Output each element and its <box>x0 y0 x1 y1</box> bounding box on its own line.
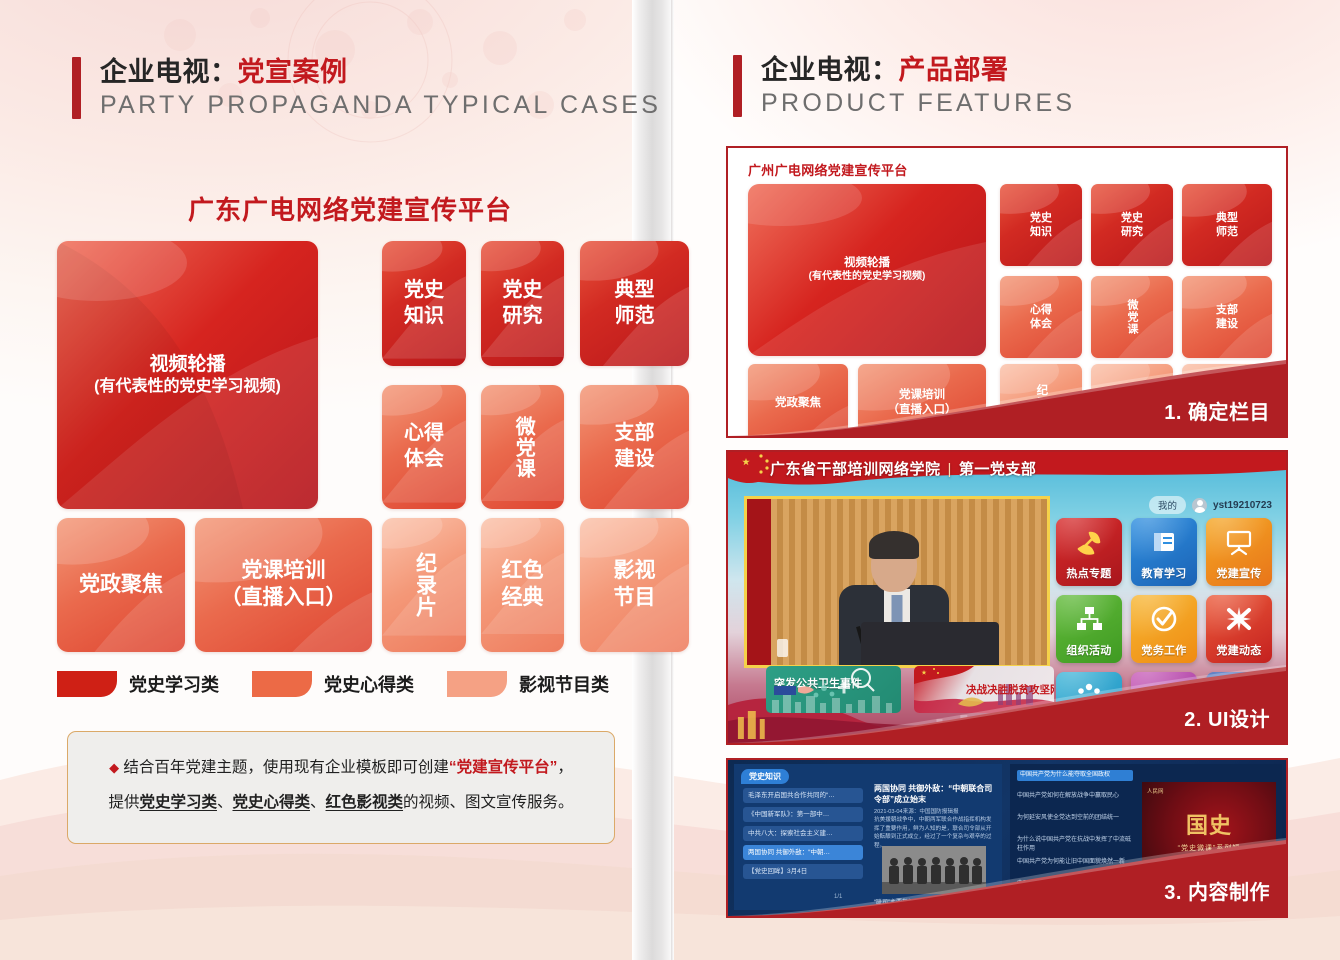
card-step-2-ui-design: 广东省干部培训网络学院|第一党支部 突发公共卫生事件 <box>726 450 1288 745</box>
platform-title: 广东广电网络党建宣传平台 <box>60 190 640 227</box>
tile-党史研究-label: 党史研究 <box>503 278 543 329</box>
note-line-2: 提供党史学习类、党史心得类、红色影视类的视频、图文宣传服务。 <box>94 791 588 814</box>
people-icon <box>1074 681 1104 711</box>
card1-feature-subtitle: (有代表性的党史学习视频) <box>809 271 926 284</box>
card3-ribbon-label: 3. 内容制作 <box>1164 876 1270 905</box>
app-tile-label: 党务工作 <box>1141 642 1186 658</box>
left-header-highlight: 党宣案例 <box>238 57 348 87</box>
hammer-sickle-icon <box>1074 527 1104 557</box>
tile-支部建设-label: 支部建设 <box>615 421 655 472</box>
card1-btile-党政聚焦-label: 党政聚焦 <box>775 396 821 411</box>
username-label: yst19210723 <box>1213 500 1272 511</box>
app-tile-热点专题[interactable]: 热点专题 <box>1056 518 1122 586</box>
card1-btile-党课培训直播入口-label: 党课培训（直播入口） <box>888 388 957 417</box>
card3-right-list-item[interactable]: 中国共产党为什么能建立新中国 <box>1017 880 1133 889</box>
card3-video-player[interactable]: 人民网 国史 “党史微课”系列短视频 00:00 / 05:17 <box>1142 782 1276 882</box>
card3-right-list-item[interactable]: 为什么说中国共产党在抗战中发挥了中流砥柱作用 <box>1017 836 1133 854</box>
tile-纪录片-label: 纪录片 <box>411 552 438 618</box>
tile-影视节目[interactable]: 影视节目 <box>580 518 689 652</box>
org-chart-icon <box>1074 604 1104 634</box>
card-step-1-columns: 广州广电网络党建宣传平台 视频轮播 (有代表性的党史学习视频) 党史知识 党史研… <box>726 146 1288 438</box>
tile-影视节目-label: 影视节目 <box>614 558 656 612</box>
app-tile-label: 热点专题 <box>1066 565 1111 581</box>
diamond-bullet-icon: ◆ <box>109 760 119 775</box>
card1-tile-党史知识[interactable]: 党史知识 <box>1000 184 1082 266</box>
card1-tile-支部建设[interactable]: 支部建设 <box>1182 276 1272 358</box>
legend-swatch <box>252 671 312 697</box>
card1-btile-党政聚焦[interactable]: 党政聚焦 <box>748 364 848 438</box>
app-tile-label: 精品课程 <box>1141 719 1186 735</box>
app-tile-组织活动[interactable]: 组织活动 <box>1056 595 1122 663</box>
tile-典型师范[interactable]: 典型师范 <box>580 241 689 366</box>
card1-tile-典型师范[interactable]: 典型师范 <box>1182 184 1272 266</box>
left-page-header: 企业电视：党宣案例 PARTY PROPAGANDA TYPICAL CASES <box>72 57 661 121</box>
tile-党课培训直播入口[interactable]: 党课培训（直播入口） <box>195 518 372 652</box>
tile-党课培训直播入口-label: 党课培训（直播入口） <box>221 558 347 612</box>
card1-btile-红色经典[interactable]: 红色经典 <box>1091 364 1173 438</box>
card1-btile-党课培训直播入口[interactable]: 党课培训（直播入口） <box>858 364 986 438</box>
tile-video-carousel-label: 视频轮播 (有代表性的党史学习视频) <box>94 353 281 398</box>
player-title-main: 国史 <box>1176 808 1243 840</box>
banner2-text: 决战决胜脱贫攻坚网上专题班 <box>966 682 1054 697</box>
app-tile-师资队伍[interactable]: 师资队伍 <box>1056 672 1122 740</box>
app-tile-党务工作[interactable]: 党务工作 <box>1131 595 1197 663</box>
card3-left-list-item[interactable]: 《中国新军队》：第一部中… <box>743 807 863 822</box>
card3-right-list-item[interactable]: 中国共产党为何能让旧中国面貌焕然一新 <box>1017 858 1133 867</box>
app-tile-label: 组织活动 <box>1066 642 1111 658</box>
card1-tile-微党课-label: 微党课 <box>1125 299 1139 335</box>
right-header-title-cn: 企业电视：产品部署 <box>761 55 1075 86</box>
app-tile-党建宣传[interactable]: 党建宣传 <box>1206 518 1272 586</box>
right-page-header: 企业电视：产品部署 PRODUCT FEATURES <box>733 55 1075 119</box>
card-step-3-content-production: 党史知识 两国协同 共御外敌：“中朝联合司令部”成立始末 2021-03-04来… <box>726 758 1288 918</box>
left-module-grid: 视频轮播 (有代表性的党史学习视频) 党史知识 党史研究 典型师范 心得体会 微… <box>57 241 632 652</box>
card3-right-list-item[interactable]: 为何延安风使全党达到空前的团结统一 <box>1017 814 1133 823</box>
tile-video-carousel[interactable]: 视频轮播 (有代表性的党史学习视频) <box>57 241 318 509</box>
star-burst-icon <box>1224 604 1254 634</box>
banner1-art <box>766 666 901 713</box>
legend-swatch <box>57 671 117 697</box>
water-glass <box>777 639 788 657</box>
legend-swatch <box>447 671 507 697</box>
historic-group-photo <box>882 846 986 894</box>
card1-tile-党史研究-label: 党史研究 <box>1121 211 1143 239</box>
card3-left-list-item[interactable]: 毛泽东开启国共合作共同的“… <box>743 788 863 803</box>
trophy-icon <box>1149 681 1179 711</box>
card3-player-title: 国史 “党史微课”系列短视频 <box>1176 808 1243 863</box>
tile-红色经典[interactable]: 红色经典 <box>481 518 564 652</box>
tile-党政聚焦[interactable]: 党政聚焦 <box>57 518 185 652</box>
tile-红色经典-label: 红色经典 <box>502 558 544 612</box>
tile-典型师范-label: 典型师范 <box>615 278 655 329</box>
card3-category-tag: 党史知识 <box>741 769 789 784</box>
summary-note-box: ◆ 结合百年党建主题，使用现有企业模板即可创建“党建宣传平台”， 提供党史学习类… <box>67 731 615 844</box>
card2-banner-public-health[interactable]: 突发公共卫生事件 <box>766 666 901 713</box>
card3-photo-caption: “联司”主要指挥员 <box>874 897 920 906</box>
header-accent-bar <box>72 57 81 119</box>
speaker-hair <box>869 531 919 559</box>
feature-subtitle: (有代表性的党史学习视频) <box>94 377 281 397</box>
card3-left-list-item[interactable]: 两国协同 共御外敌：“中朝… <box>743 845 863 860</box>
tile-党史知识[interactable]: 党史知识 <box>382 241 466 366</box>
podium <box>861 622 999 665</box>
card3-left-list-item[interactable]: 【党史回眸】3月4日 <box>743 864 863 879</box>
legend: 党史学习类 党史心得类 影视节目类 <box>57 671 632 701</box>
card1-btile-红色经典-label: 红色经典 <box>1121 388 1144 417</box>
app-tile-label: 师资队伍 <box>1066 719 1111 735</box>
card3-article-meta: 2021-03-04来源：中国国防报辑报抗美援朝战争中，中朝两军联合作战指挥机构… <box>874 808 992 850</box>
header-accent-bar <box>733 55 742 117</box>
card3-right-list-item[interactable]: 中国共产党如何在解放战争中赢取民心 <box>1017 792 1133 801</box>
card1-tile-党史知识-label: 党史知识 <box>1030 211 1052 239</box>
tile-微党课-label: 微党课 <box>510 416 536 479</box>
card1-platform-title: 广州广电网络党建宣传平台 <box>748 160 908 179</box>
mine-chip[interactable]: 我的 <box>1149 496 1186 514</box>
board-icon <box>1224 527 1254 557</box>
avatar[interactable] <box>1192 498 1207 513</box>
book-icon <box>1149 527 1179 557</box>
feature-title: 视频轮播 <box>94 353 281 377</box>
legend-item-党史学习类: 党史学习类 <box>57 671 219 697</box>
app-tile-label: 党建宣传 <box>1216 565 1261 581</box>
app-tile-label: 教育学习 <box>1141 565 1186 581</box>
app-tile-label: 党建动态 <box>1216 642 1261 658</box>
right-header-title-en: PRODUCT FEATURES <box>761 88 1075 119</box>
card2-app-grid-area: 我的 yst19210723 热点专题 教育学习 党建宣传 组织活动 党务工作 … <box>1056 496 1278 736</box>
tile-纪录片[interactable]: 纪录片 <box>382 518 466 652</box>
note-line-1: ◆ 结合百年党建主题，使用现有企业模板即可创建“党建宣传平台”， <box>94 756 588 779</box>
tile-支部建设[interactable]: 支部建设 <box>580 385 689 509</box>
card1-tile-典型师范-label: 典型师范 <box>1216 211 1238 239</box>
left-header-title-cn: 企业电视：党宣案例 <box>100 57 661 88</box>
card1-tile-心得体会-label: 心得体会 <box>1030 303 1052 331</box>
card1-module-grid: 视频轮播 (有代表性的党史学习视频) 党史知识 党史研究 典型师范 心得体会 微… <box>748 184 1272 422</box>
card1-tile-video-carousel[interactable]: 视频轮播 (有代表性的党史学习视频) <box>748 184 986 356</box>
card2-user-area[interactable]: 我的 yst19210723 <box>1149 496 1272 514</box>
card1-btile-纪录片[interactable]: 纪录片 <box>1000 364 1082 438</box>
card3-left-list-item[interactable]: 中共八大：探索社会主义建… <box>743 826 863 841</box>
tile-微党课[interactable]: 微党课 <box>481 385 564 509</box>
card1-feature-title: 视频轮播 <box>809 256 926 271</box>
card3-article-title: 两国协同 共御外敌：“中朝联合司令部”成立始末 <box>874 784 994 806</box>
tile-党史知识-label: 党史知识 <box>404 278 444 329</box>
app-tile-党建动态[interactable]: 党建动态 <box>1206 595 1272 663</box>
card1-tile-微党课[interactable]: 微党课 <box>1091 276 1173 358</box>
legend-item-党史心得类: 党史心得类 <box>252 671 414 697</box>
card1-tile-党史研究[interactable]: 党史研究 <box>1091 184 1173 266</box>
card3-page-indicator: 1/1 <box>834 894 842 900</box>
card2-site-title: 广东省干部培训网络学院|第一党支部 <box>770 458 1036 479</box>
card1-tile-支部建设-label: 支部建设 <box>1216 303 1238 331</box>
card1-tile-心得体会[interactable]: 心得体会 <box>1000 276 1082 358</box>
card2-banner-poverty-training[interactable]: 决战决胜脱贫攻坚网上专题班 <box>914 666 1054 713</box>
card3-right-list-item[interactable]: 中国共产党为什么能夺取全国政权 <box>1017 770 1133 781</box>
player-title-caption: “党史微课”系列短视频 <box>1176 843 1243 863</box>
legend-label: 党史心得类 <box>324 671 414 697</box>
check-circle-icon <box>1149 604 1179 634</box>
card3-left-screen: 党史知识 两国协同 共御外敌：“中朝联合司令部”成立始末 2021-03-04来… <box>734 764 1002 910</box>
tile-心得体会[interactable]: 心得体会 <box>382 385 466 509</box>
card2-ribbon-label: 2. UI设计 <box>1184 703 1270 732</box>
left-header-title-en: PARTY PROPAGANDA TYPICAL CASES <box>100 90 661 121</box>
card1-ribbon-label: 1. 确定栏目 <box>1164 396 1270 425</box>
card1-btile-纪录片-label: 纪录片 <box>1034 384 1049 422</box>
legend-item-影视节目类: 影视节目类 <box>447 671 609 697</box>
legend-label: 影视节目类 <box>519 671 609 697</box>
tile-党政聚焦-label: 党政聚焦 <box>79 572 163 599</box>
legend-label: 党史学习类 <box>129 671 219 697</box>
card3-player-logo: 人民网 <box>1147 787 1164 795</box>
tile-心得体会-label: 心得体会 <box>404 421 444 472</box>
card3-article-photo <box>882 846 986 894</box>
right-header-highlight: 产品部署 <box>899 55 1009 85</box>
card2-video-player[interactable] <box>744 496 1050 668</box>
tile-党史研究[interactable]: 党史研究 <box>481 241 564 366</box>
app-tile-教育学习[interactable]: 教育学习 <box>1131 518 1197 586</box>
